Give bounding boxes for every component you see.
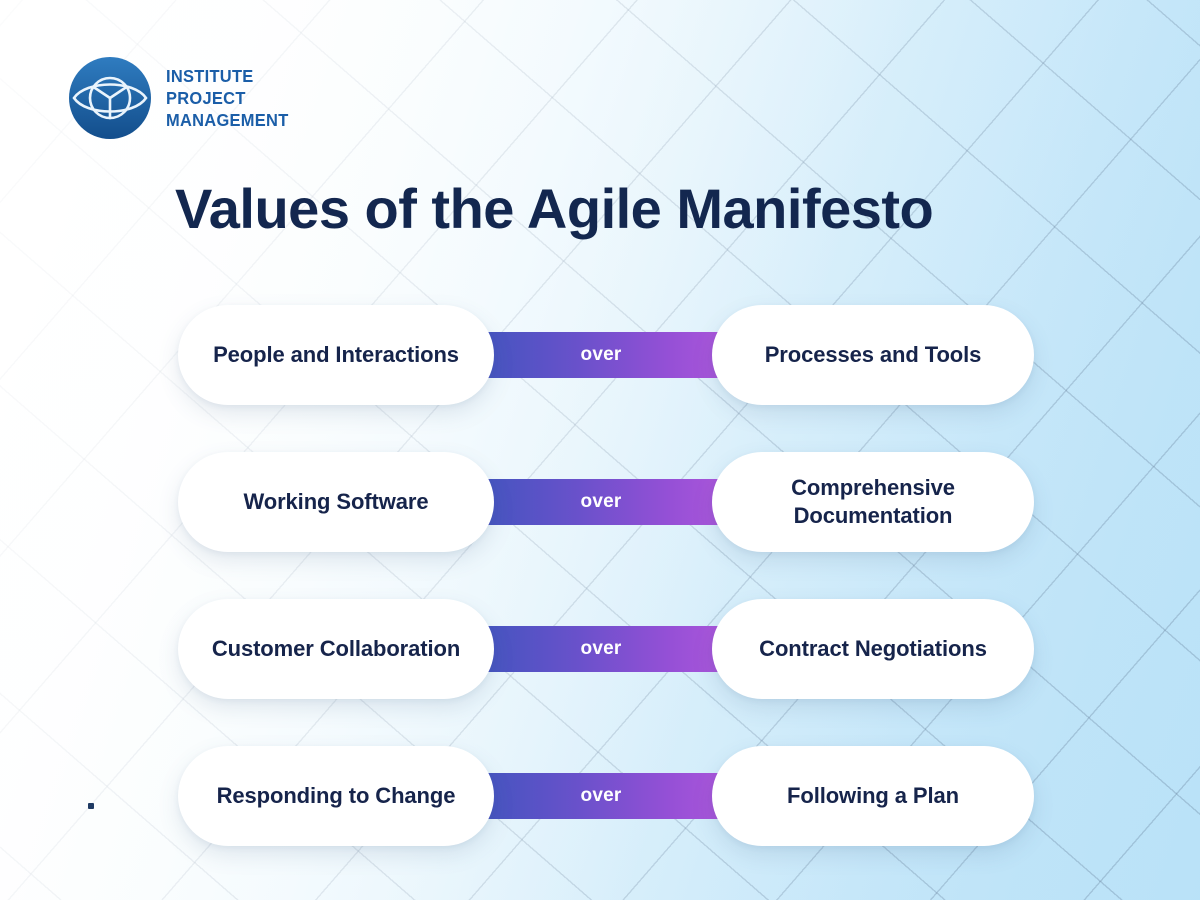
value-left-label: Responding to Change xyxy=(217,782,456,810)
eye-circle-logo-icon xyxy=(68,56,152,140)
value-connector-bar: over xyxy=(470,773,732,819)
brand-name: INSTITUTE PROJECT MANAGEMENT xyxy=(166,65,289,132)
value-left-label: Working Software xyxy=(243,488,428,516)
value-connector-bar: over xyxy=(470,479,732,525)
value-right-label: Processes and Tools xyxy=(765,341,982,369)
value-connector-label: over xyxy=(581,785,622,807)
value-left-card[interactable]: Working Software xyxy=(178,452,494,552)
value-right-card[interactable]: Processes and Tools xyxy=(712,305,1034,405)
stray-dot-artifact xyxy=(88,803,94,809)
value-connector-bar: over xyxy=(470,626,732,672)
value-connector-label: over xyxy=(581,491,622,513)
slide-canvas: INSTITUTE PROJECT MANAGEMENT Values of t… xyxy=(0,0,1200,900)
value-right-card[interactable]: Comprehensive Documentation xyxy=(712,452,1034,552)
value-right-label: Following a Plan xyxy=(787,782,959,810)
value-connector-label: over xyxy=(581,344,622,366)
value-connector-label: over xyxy=(581,638,622,660)
value-row: Working Software over Comprehensive Docu… xyxy=(0,452,1200,552)
brand-logo: INSTITUTE PROJECT MANAGEMENT xyxy=(68,56,296,140)
value-row: Customer Collaboration over Contract Neg… xyxy=(0,599,1200,699)
value-right-card[interactable]: Following a Plan xyxy=(712,746,1034,846)
value-right-label: Comprehensive Documentation xyxy=(791,474,955,529)
values-list: People and Interactions over Processes a… xyxy=(0,305,1200,846)
value-connector-bar: over xyxy=(470,332,732,378)
value-left-card[interactable]: Customer Collaboration xyxy=(178,599,494,699)
value-row: Responding to Change over Following a Pl… xyxy=(0,746,1200,846)
value-left-label: People and Interactions xyxy=(213,341,459,369)
value-left-card[interactable]: People and Interactions xyxy=(178,305,494,405)
value-right-card[interactable]: Contract Negotiations xyxy=(712,599,1034,699)
page-title: Values of the Agile Manifesto xyxy=(175,176,933,241)
value-left-label: Customer Collaboration xyxy=(212,635,460,663)
value-right-label: Contract Negotiations xyxy=(759,635,987,663)
value-row: People and Interactions over Processes a… xyxy=(0,305,1200,405)
value-left-card[interactable]: Responding to Change xyxy=(178,746,494,846)
